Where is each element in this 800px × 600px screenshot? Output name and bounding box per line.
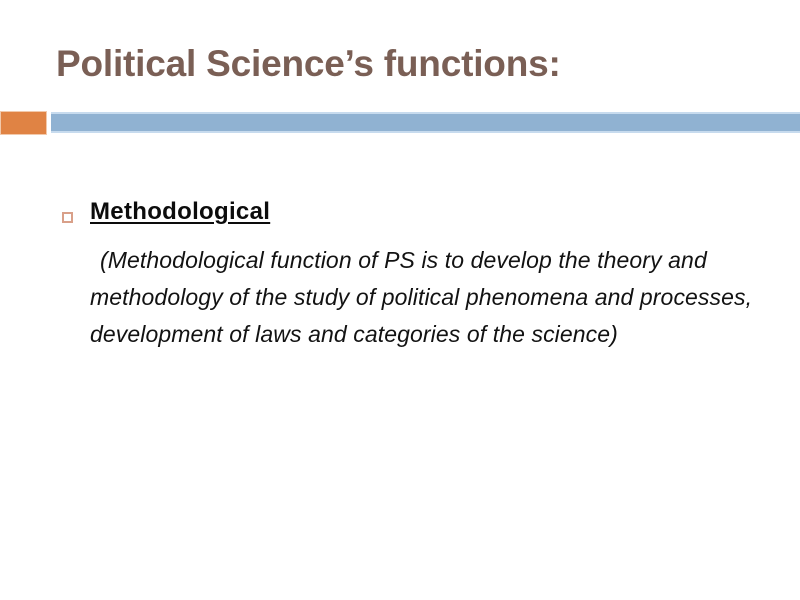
divider-accent-block <box>0 111 47 135</box>
title-divider <box>0 110 800 136</box>
divider-bar <box>51 112 800 133</box>
slide: Political Science’s functions: Methodolo… <box>0 0 800 600</box>
square-bullet-icon <box>62 212 73 223</box>
slide-body: Methodological (Methodological function … <box>56 196 776 376</box>
page-title: Political Science’s functions: <box>56 44 756 85</box>
bullet-heading: Methodological <box>90 198 270 225</box>
list-item: Methodological <box>56 196 776 230</box>
bullet-body-text: (Methodological function of PS is to dev… <box>56 242 776 353</box>
